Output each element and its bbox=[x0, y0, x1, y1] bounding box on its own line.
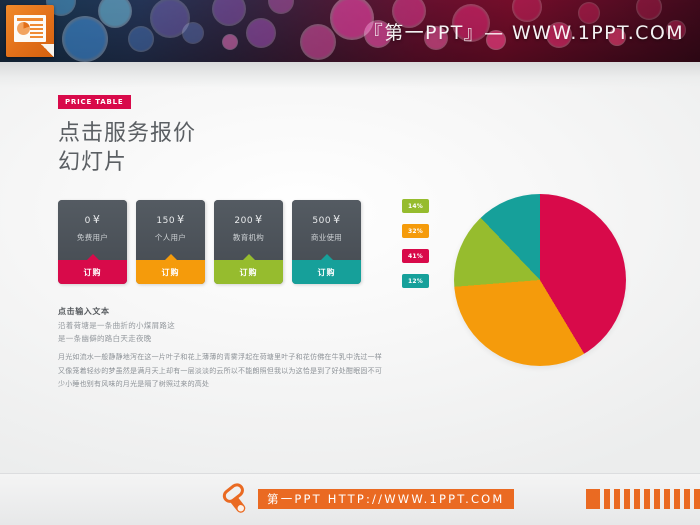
bokeh-circle bbox=[300, 24, 336, 60]
footer-bar bbox=[644, 489, 650, 509]
currency-symbol: ¥ bbox=[333, 213, 341, 226]
price-plan-label: 商业使用 bbox=[311, 232, 342, 243]
bokeh-circle bbox=[62, 16, 108, 62]
legend-badge: 14% bbox=[402, 199, 429, 213]
doc-pie-glyph bbox=[17, 22, 30, 35]
page-title: 点击服务报价幻灯片 bbox=[58, 119, 196, 177]
bokeh-circle bbox=[546, 22, 572, 48]
body-gloss bbox=[0, 62, 700, 88]
footer-bar bbox=[586, 489, 600, 509]
price-card-top: 200¥教育机构 bbox=[214, 200, 283, 260]
bokeh-circle bbox=[424, 26, 448, 50]
body-paragraph: 月光如流水一般静静地泻在这一片叶子和花上薄薄的青雾浮起在荷塘里叶子和花仿佛在牛乳… bbox=[58, 351, 388, 392]
title-banner: 『第一PPT』— WWW.1PPT.COM bbox=[0, 0, 700, 62]
footer-bar bbox=[604, 489, 610, 509]
pie-chart bbox=[454, 194, 626, 366]
bokeh-circle bbox=[608, 28, 626, 46]
footer-url-label: 第一PPT HTTP://WWW.1PPT.COM bbox=[258, 489, 514, 509]
order-button[interactable]: 订购 bbox=[58, 260, 127, 284]
text-subcopy: 沿着荷塘是一条曲折的小煤屑路这是一条幽僻的路白天走夜晚 bbox=[58, 319, 175, 345]
price-card[interactable]: 200¥教育机构订购 bbox=[214, 200, 283, 284]
price-card-group: 0¥免费用户订购150¥个人用户订购200¥教育机构订购500¥商业使用订购 bbox=[58, 200, 361, 284]
bokeh-circle bbox=[578, 2, 600, 24]
bokeh-circle bbox=[182, 22, 204, 44]
doc-line bbox=[30, 32, 43, 34]
price-card[interactable]: 500¥商业使用订购 bbox=[292, 200, 361, 284]
price-plan-label: 个人用户 bbox=[155, 232, 186, 243]
legend-badge: 12% bbox=[402, 274, 429, 288]
price-amount: 500¥ bbox=[312, 213, 340, 226]
footer-bar bbox=[654, 489, 660, 509]
slide-canvas: 『第一PPT』— WWW.1PPT.COM PRICE TABLE 点击服务报价… bbox=[0, 0, 700, 525]
bokeh-circle bbox=[246, 18, 276, 48]
bokeh-circle bbox=[364, 20, 392, 48]
footer-bar bbox=[614, 489, 620, 509]
chart-legend: 14%32%41%12% bbox=[402, 199, 429, 299]
section-badge: PRICE TABLE bbox=[58, 95, 131, 109]
currency-symbol: ¥ bbox=[177, 213, 185, 226]
legend-badge: 41% bbox=[402, 249, 429, 263]
order-button[interactable]: 订购 bbox=[214, 260, 283, 284]
powerpoint-icon bbox=[6, 5, 54, 57]
order-button[interactable]: 订购 bbox=[292, 260, 361, 284]
bokeh-circle bbox=[128, 26, 154, 52]
price-card-top: 500¥商业使用 bbox=[292, 200, 361, 260]
footer-bar bbox=[634, 489, 640, 509]
footer-bar bbox=[694, 489, 700, 509]
order-button[interactable]: 订购 bbox=[136, 260, 205, 284]
currency-symbol: ¥ bbox=[93, 213, 101, 226]
price-plan-label: 免费用户 bbox=[77, 232, 108, 243]
legend-badge: 32% bbox=[402, 224, 429, 238]
bokeh-circle bbox=[452, 4, 490, 42]
bokeh-circle bbox=[486, 30, 506, 50]
price-card[interactable]: 0¥免费用户订购 bbox=[58, 200, 127, 284]
footer-bar bbox=[684, 489, 690, 509]
powerpoint-doc-glyph bbox=[14, 15, 46, 42]
doc-line bbox=[30, 28, 43, 30]
footer-bar bbox=[664, 489, 670, 509]
doc-fold-corner bbox=[41, 44, 54, 57]
footer-bar-decoration bbox=[586, 489, 700, 509]
pen-icon bbox=[221, 483, 255, 515]
currency-symbol: ¥ bbox=[255, 213, 263, 226]
bokeh-circle bbox=[222, 34, 238, 50]
text-heading: 点击输入文本 bbox=[58, 306, 110, 317]
price-plan-label: 教育机构 bbox=[233, 232, 264, 243]
doc-line bbox=[30, 24, 43, 26]
footer-bar bbox=[624, 489, 630, 509]
price-card-top: 150¥个人用户 bbox=[136, 200, 205, 260]
price-card-top: 0¥免费用户 bbox=[58, 200, 127, 260]
price-card[interactable]: 150¥个人用户订购 bbox=[136, 200, 205, 284]
doc-line bbox=[30, 36, 43, 38]
doc-header-bar bbox=[17, 18, 43, 21]
price-amount: 200¥ bbox=[234, 213, 262, 226]
price-amount: 0¥ bbox=[85, 213, 101, 226]
footer-bar bbox=[674, 489, 680, 509]
price-amount: 150¥ bbox=[156, 213, 184, 226]
bokeh-circle bbox=[666, 20, 686, 40]
